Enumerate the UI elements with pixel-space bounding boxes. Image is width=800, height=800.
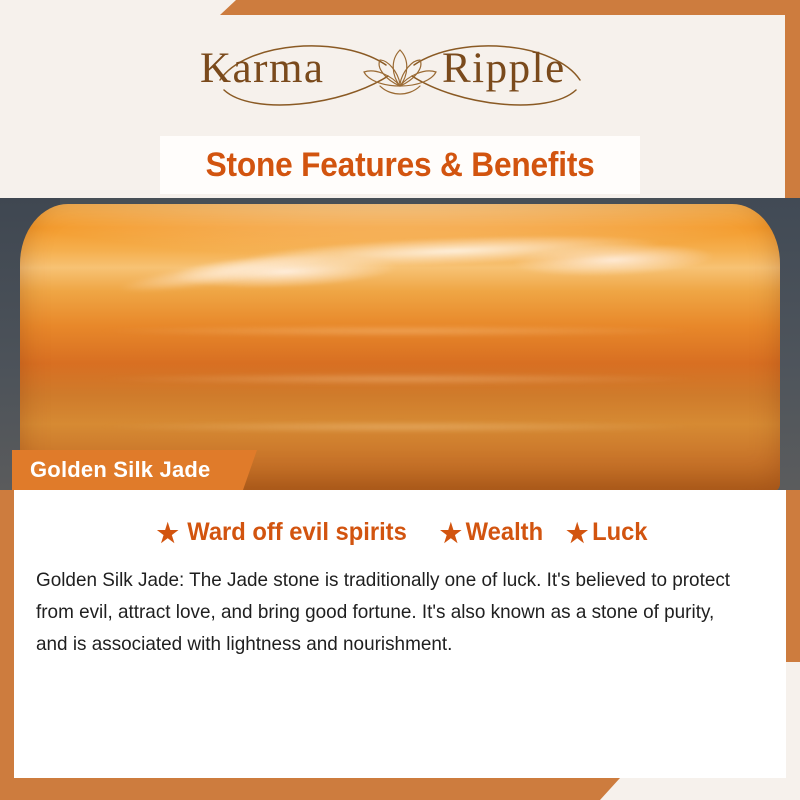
stone-slab [20,204,780,490]
infographic-page: Karma Ripple Stone Features & Benefits G… [0,0,800,800]
star-icon: ★ [566,520,588,546]
stone-band-2 [20,372,780,386]
frame-bottom-bar [0,778,620,800]
benefit-wealth: ★ Wealth [440,518,543,547]
stone-photo [0,198,800,490]
stone-band-3 [20,420,780,434]
benefits-row: ★ Ward off evil spirits ★ Wealth ★ Luck [18,518,782,547]
stone-description: Golden Silk Jade: The Jade stone is trad… [36,564,744,660]
frame-top-bar [220,0,800,15]
benefit-label: Wealth [466,518,543,547]
content-card: ★ Ward off evil spirits ★ Wealth ★ Luck … [14,490,786,778]
brand-name-left: Karma [200,45,325,92]
stone-band-1 [20,324,780,338]
star-icon: ★ [157,520,179,546]
title-plate: Stone Features & Benefits [160,136,640,194]
benefit-label: Ward off evil spirits [187,518,407,547]
stone-white-streak-secondary [80,233,381,310]
star-icon: ★ [440,520,462,546]
stone-name-banner: Golden Silk Jade [12,450,257,490]
benefit-ward-off-evil-spirits: ★ Ward off evil spirits [157,518,407,547]
content-card-inner: ★ Ward off evil spirits ★ Wealth ★ Luck … [18,496,782,772]
logo-flourish-icon: Karma Ripple [190,20,610,116]
page-title: Stone Features & Benefits [206,146,595,185]
stone-name-label: Golden Silk Jade [30,457,210,483]
brand-logo: Karma Ripple [0,18,800,118]
brand-name-right: Ripple [442,45,566,92]
benefit-label: Luck [592,518,647,547]
benefit-luck: ★ Luck [566,518,647,547]
